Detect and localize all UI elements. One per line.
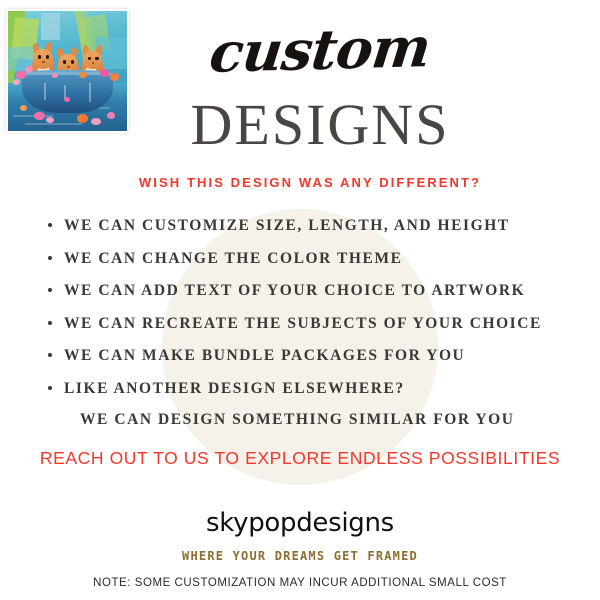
brand-name: skypopdesigns — [20, 508, 580, 538]
bullet-dot-icon — [48, 223, 52, 227]
list-item: WE CAN RECREATE THE SUBJECTS OF YOUR CHO… — [48, 316, 588, 332]
squirrel-right-head — [83, 51, 102, 69]
squirrel-middle-eye — [71, 60, 74, 64]
headline-designs: DESIGNS — [140, 96, 500, 154]
list-item: WE CAN MAKE BUNDLE PACKAGES FOR YOU — [48, 348, 588, 364]
list-item-label: WE CAN RECREATE THE SUBJECTS OF YOUR CHO… — [64, 315, 542, 332]
list-item: LIKE ANOTHER DESIGN ELSEWHERE? WE CAN DE… — [48, 381, 588, 428]
brand-tagline: WHERE YOUR DREAMS GET FRAMED — [20, 549, 580, 563]
flower-pink — [107, 112, 115, 119]
flower-pink — [46, 117, 54, 123]
flower-orange — [110, 73, 118, 80]
flower-orange — [77, 114, 88, 122]
list-item-label: WE CAN CUSTOMIZE SIZE, LENGTH, AND HEIGH… — [64, 217, 510, 234]
flower-orange — [20, 105, 27, 111]
list-item-label: WE CAN MAKE BUNDLE PACKAGES FOR YOU — [64, 347, 465, 364]
bullet-dot-icon — [48, 386, 52, 390]
art-water-streak — [25, 123, 82, 125]
flower-pink — [34, 112, 45, 120]
list-item-label: LIKE ANOTHER DESIGN ELSEWHERE? — [64, 380, 405, 397]
squirrel-middle-nose — [67, 66, 70, 68]
art-water-streak — [13, 115, 53, 117]
bathtub-drip — [89, 83, 91, 102]
benefits-list: WE CAN CUSTOMIZE SIZE, LENGTH, AND HEIGH… — [48, 218, 588, 445]
flower-pink — [100, 69, 110, 77]
list-item: WE CAN CHANGE THE COLOR THEME — [48, 251, 588, 267]
list-item: WE CAN ADD TEXT OF YOUR CHOICE TO ARTWOR… — [48, 283, 588, 299]
squirrel-right-eye — [95, 57, 98, 61]
bathtub — [22, 72, 112, 113]
bullet-dot-icon — [48, 256, 52, 260]
tagline-question: WISH THIS DESIGN WAS ANY DIFFERENT? — [60, 175, 560, 190]
list-item-label: WE CAN CHANGE THE COLOR THEME — [64, 250, 403, 267]
squirrel-middle-eye — [63, 60, 66, 64]
squirrel-left-eye — [38, 55, 41, 59]
list-item-subline: WE CAN DESIGN SOMETHING SIMILAR FOR YOU — [64, 412, 588, 428]
flower-pink — [91, 118, 101, 125]
artwork-thumbnail — [6, 9, 129, 133]
bullet-dot-icon — [48, 321, 52, 325]
cta-text: REACH OUT TO US TO EXPLORE ENDLESS POSSI… — [20, 448, 580, 469]
list-item: WE CAN CUSTOMIZE SIZE, LENGTH, AND HEIGH… — [48, 218, 588, 234]
footer-note: NOTE: SOME CUSTOMIZATION MAY INCUR ADDIT… — [20, 577, 580, 589]
art-brushstroke-pale-blue — [41, 13, 60, 39]
squirrel-left-head — [33, 49, 53, 68]
artwork-canvas — [8, 11, 127, 131]
list-item-label: WE CAN ADD TEXT OF YOUR CHOICE TO ARTWOR… — [64, 282, 525, 299]
flower-orange — [79, 72, 86, 78]
bathtub-drip — [44, 83, 46, 100]
headline-script-custom: custom — [146, 18, 493, 82]
bullet-dot-icon — [48, 353, 52, 357]
squirrel-left-nose — [42, 61, 45, 63]
promo-graphic: custom DESIGNS WISH THIS DESIGN WAS ANY … — [0, 0, 600, 600]
bullet-dot-icon — [48, 288, 52, 292]
squirrel-right-eye — [88, 57, 91, 61]
